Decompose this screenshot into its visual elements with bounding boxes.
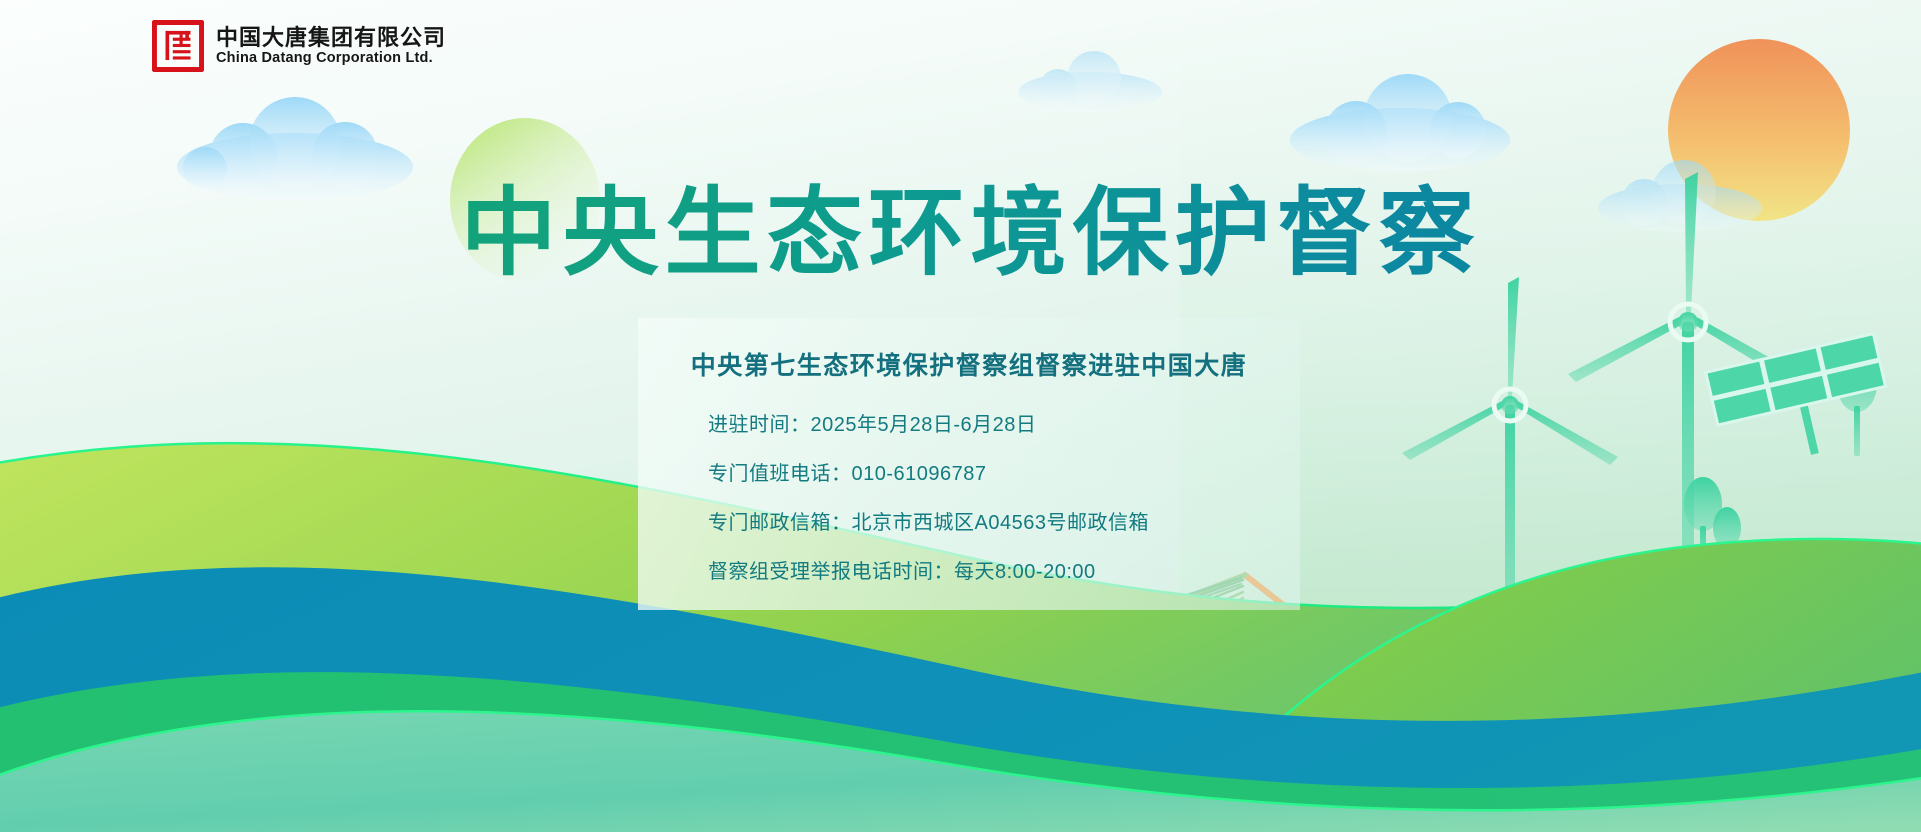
panel-subtitle: 中央第七生态环境保护督察组督察进驻中国大唐 (638, 346, 1300, 382)
wind-turbine-icon (1402, 277, 1618, 660)
brand-name-cn: 中国大唐集团有限公司 (216, 26, 446, 49)
tree-icon (1419, 632, 1471, 754)
brand-logo: 中国大唐集团有限公司 China Datang Corporation Ltd. (152, 20, 446, 72)
wave-green-band (0, 672, 1921, 832)
info-line-reporting-hours: 督察组受理举报电话时间：每天8:00-20:00 (662, 555, 1300, 584)
info-line-hotline: 专门值班电话：010-61096787 (662, 457, 1300, 486)
info-line-arrival-period: 进驻时间：2025年5月28日-6月28日 (662, 408, 1300, 437)
inspection-info-panel: 中央第七生态环境保护督察组督察进驻中国大唐 进驻时间：2025年5月28日-6月… (638, 318, 1300, 610)
tree-icon (1684, 477, 1722, 574)
wave-mint (0, 711, 1921, 832)
info-line-postal-box: 专门邮政信箱：北京市西城区A04563号邮政信箱 (662, 506, 1300, 535)
solar-panel-icon (1490, 571, 1661, 697)
eco-inspection-banner: 中国大唐集团有限公司 China Datang Corporation Ltd.… (0, 0, 1921, 832)
brand-name-en: China Datang Corporation Ltd. (216, 51, 446, 66)
solar-panel-icon (1706, 334, 1897, 474)
page-title: 中央生态环境保护督察 (0, 155, 1921, 294)
tree-icon (1713, 507, 1741, 585)
datang-tang-seal-icon (152, 20, 204, 72)
tree-icon (1837, 356, 1877, 456)
